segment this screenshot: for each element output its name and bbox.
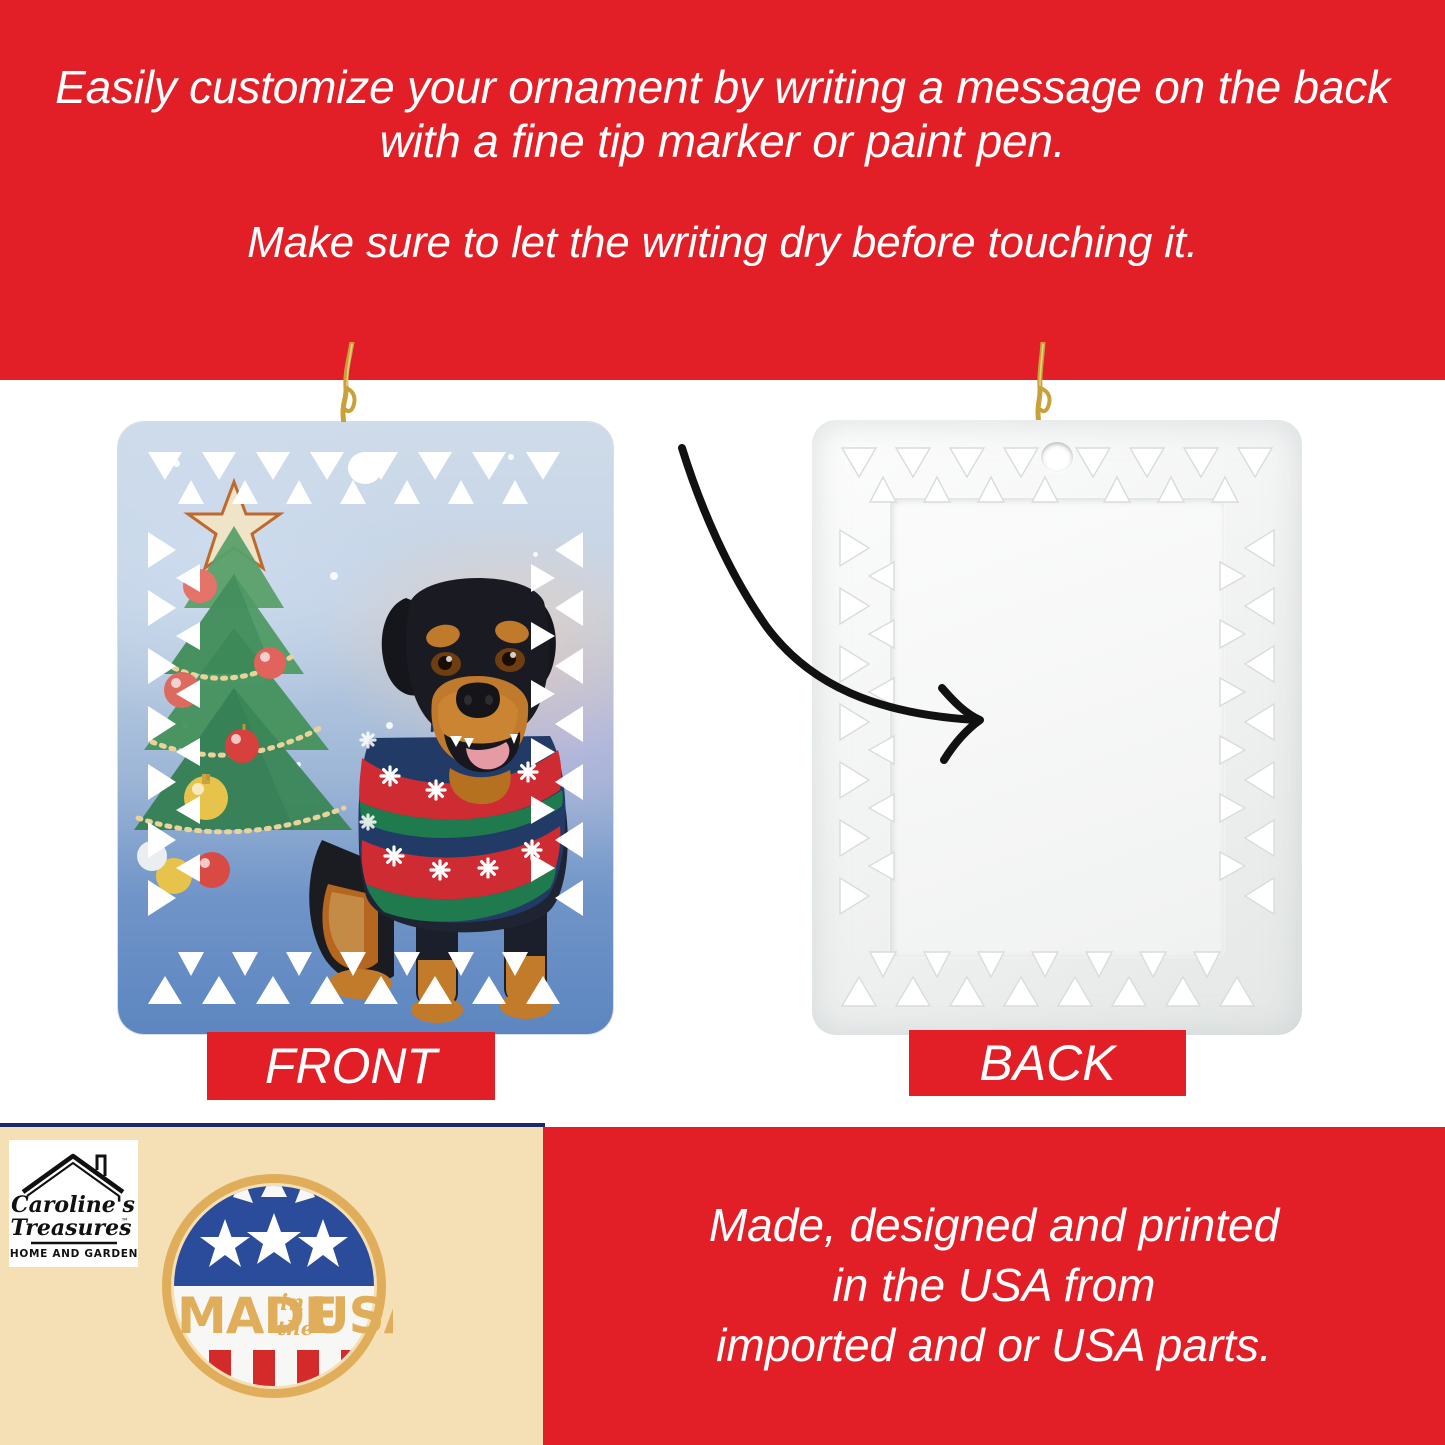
carolines-treasures-logo: Caroline's Treasures ™ HOME AND GARDEN: [9, 1140, 138, 1267]
back-ornament-hanger-hole: [1041, 442, 1073, 472]
instruction-line-1: Easily customize your ornament by writin…: [53, 60, 1393, 169]
instruction-line-2: Make sure to let the writing dry before …: [53, 217, 1393, 269]
front-label: FRONT: [207, 1032, 495, 1100]
snow-fleck: [508, 454, 514, 460]
made-in-usa-statement: Made, designed and printed in the USA fr…: [594, 1196, 1394, 1375]
front-ornament[interactable]: [118, 422, 613, 1034]
instruction-banner: Easily customize your ornament by writin…: [0, 0, 1445, 380]
pointer-arrow-icon: [640, 420, 1040, 770]
logo-brand-line2: Treasures: [11, 1215, 132, 1241]
footer-section: Caroline's Treasures ™ HOME AND GARDEN: [0, 1127, 1445, 1445]
ornament-showcase: [0, 380, 1445, 1127]
back-label: BACK: [909, 1030, 1186, 1096]
logo-trademark: ™: [121, 1217, 129, 1226]
rottweiler-dog-illustration: [298, 540, 608, 1030]
made-statement-line-1: Made, designed and printed: [594, 1196, 1394, 1256]
badge-word-in: in: [280, 1290, 304, 1316]
made-statement-line-3: imported and or USA parts.: [594, 1316, 1394, 1376]
snow-fleck: [173, 460, 180, 467]
product-infographic: Easily customize your ornament by writin…: [0, 0, 1445, 1445]
made-in-usa-badge: MADE in the USA: [155, 1167, 393, 1405]
divider-rule: [0, 1123, 545, 1127]
made-statement-line-2: in the USA from: [594, 1256, 1394, 1316]
brand-panel: Caroline's Treasures ™ HOME AND GARDEN: [0, 1127, 543, 1445]
logo-tagline: HOME AND GARDEN: [10, 1248, 138, 1260]
made-in-usa-statement-panel: Made, designed and printed in the USA fr…: [543, 1127, 1445, 1445]
badge-word-usa: USA: [309, 1287, 393, 1345]
